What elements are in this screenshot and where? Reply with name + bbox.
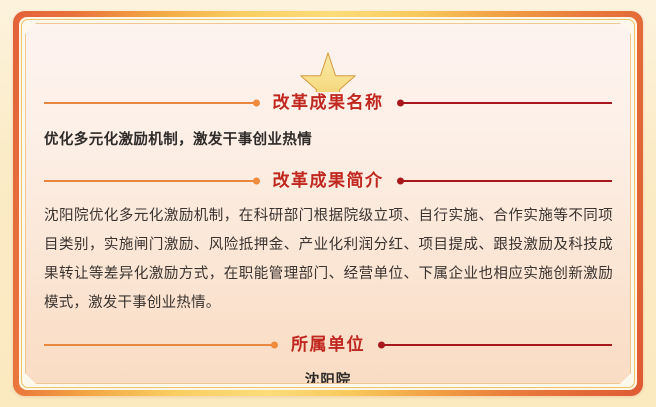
reform-achievement-card: 改革成果名称 优化多元化激励机制，激发干事创业热情 改革成果简介 沈阳院优化多元… xyxy=(0,0,656,407)
section-title-text: 所属单位 xyxy=(277,337,379,354)
section-heading-result-summary: 改革成果简介 xyxy=(44,170,612,192)
result-name-value: 优化多元化激励机制，激发干事创业热情 xyxy=(44,130,612,150)
five-pointed-star-icon xyxy=(297,52,359,92)
affiliated-unit-value: 沈阳院 xyxy=(26,369,630,384)
heading-rule-right xyxy=(398,102,613,104)
card-content-panel: 改革成果名称 优化多元化激励机制，激发干事创业热情 改革成果简介 沈阳院优化多元… xyxy=(25,23,631,384)
section-heading-affiliated-unit: 所属单位 xyxy=(44,334,612,356)
section-title-text: 改革成果简介 xyxy=(259,173,398,190)
section-title-text: 改革成果名称 xyxy=(259,95,398,112)
heading-rule-left xyxy=(44,180,259,182)
heading-rule-left xyxy=(44,102,259,104)
result-summary-value: 沈阳院优化多元化激励机制，在科研部门根据院级立项、自行实施、合作实施等不同项目类… xyxy=(44,202,613,318)
heading-rule-left xyxy=(44,344,277,346)
star-decoration-wrap xyxy=(26,52,630,92)
heading-rule-right xyxy=(379,344,612,346)
heading-rule-right xyxy=(398,180,613,182)
section-heading-result-name: 改革成果名称 xyxy=(44,92,612,114)
card-content-inner: 改革成果名称 优化多元化激励机制，激发干事创业热情 改革成果简介 沈阳院优化多元… xyxy=(26,24,630,383)
